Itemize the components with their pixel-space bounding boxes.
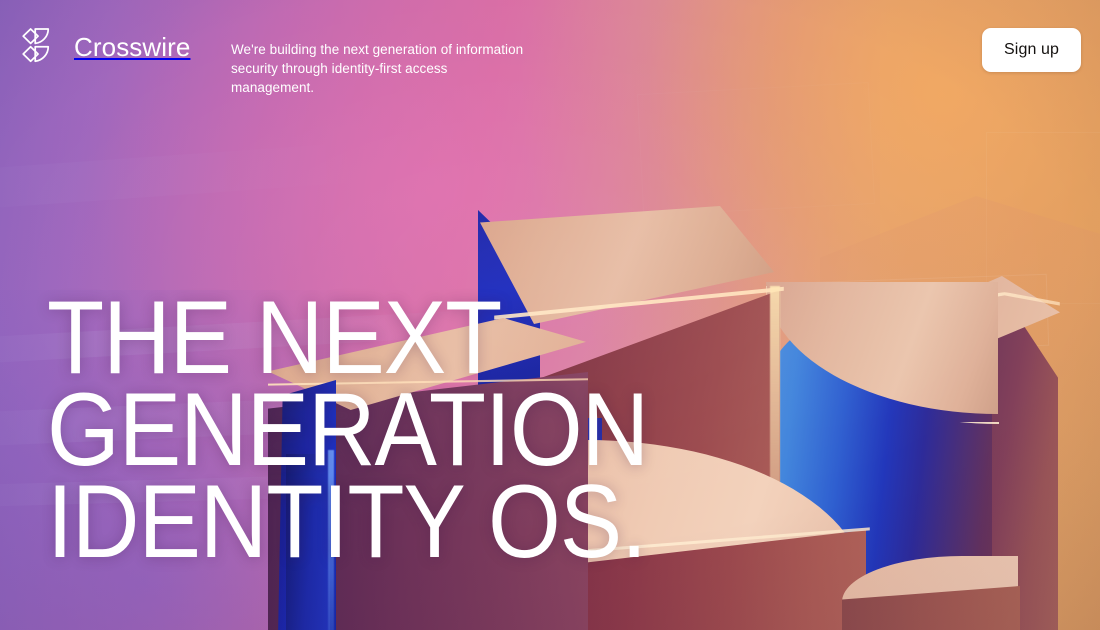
header-tagline: We're building the next generation of in…	[231, 40, 531, 98]
hero-headline: THE NEXT GENERATION IDENTITY OS.	[47, 292, 648, 568]
sign-up-button[interactable]: Sign up	[982, 28, 1081, 72]
crosswire-x-mark-icon	[20, 25, 64, 69]
page-header: Crosswire We're building the next genera…	[0, 0, 1100, 100]
headline-line-2: GENERATION	[47, 384, 648, 476]
brand-logo-link[interactable]: Crosswire	[20, 25, 190, 69]
ghost-panel	[637, 82, 875, 216]
brand-name: Crosswire	[74, 34, 190, 60]
headline-line-3: IDENTITY OS.	[47, 476, 648, 568]
hero-page: THE NEXT GENERATION IDENTITY OS. Crosswi…	[0, 0, 1100, 630]
headline-line-1: THE NEXT	[47, 292, 648, 384]
